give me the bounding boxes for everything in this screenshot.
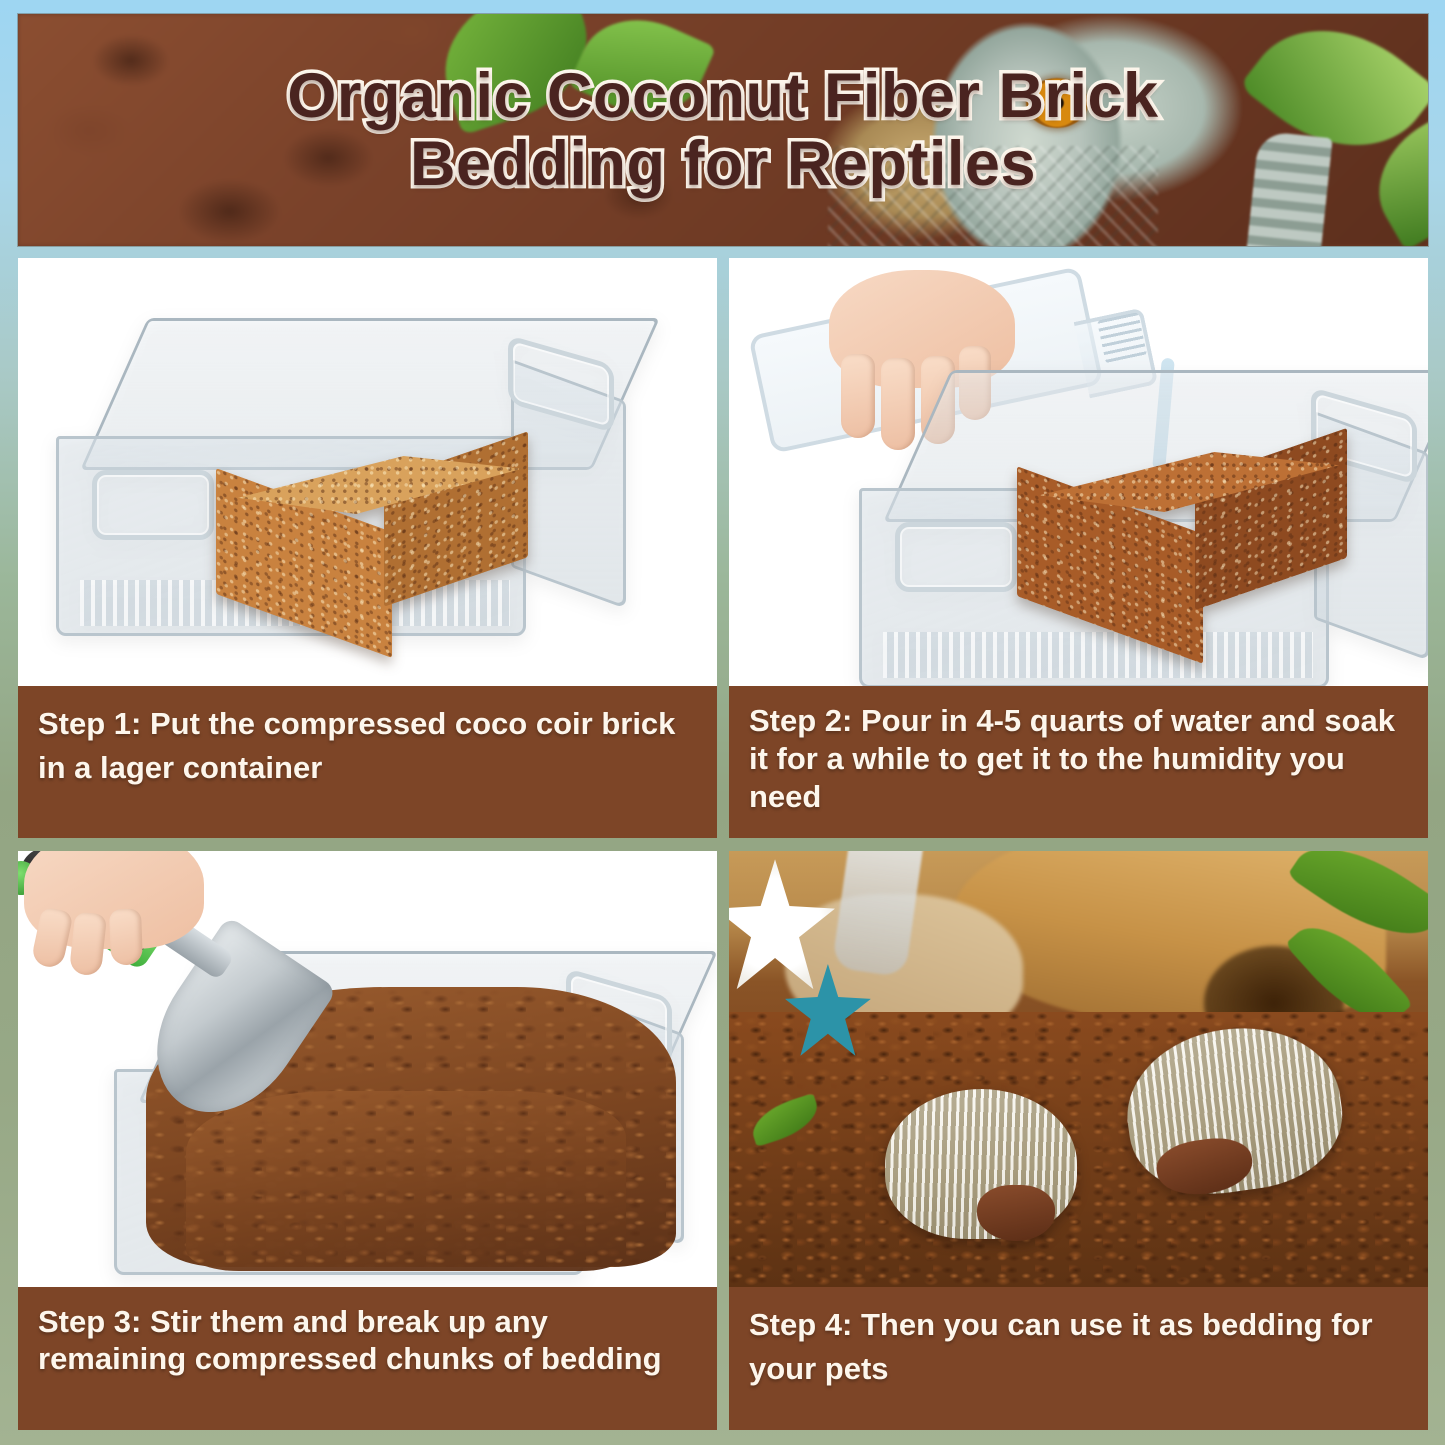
title-line-2: Bedding for Reptiles: [410, 131, 1036, 197]
bin-handle-left: [895, 522, 1017, 592]
terrarium-scene: [729, 851, 1428, 1287]
steps-grid: Step 1: Put the compressed coco coir bri…: [18, 258, 1428, 1430]
finger: [109, 908, 143, 965]
infographic-page: Organic Coconut Fiber Brick Bedding for …: [0, 0, 1445, 1445]
step-3-caption-bar: Step 3: Stir them and break up any remai…: [18, 1287, 717, 1431]
crab-body: [977, 1185, 1055, 1241]
step-4-photo: [729, 851, 1428, 1287]
step-3-caption-text: Step 3: Stir them and break up any remai…: [38, 1303, 697, 1379]
coco-coir-brick: [1017, 444, 1347, 634]
step-card-1: Step 1: Put the compressed coco coir bri…: [18, 258, 717, 838]
bottle-cap-rings: [1097, 312, 1147, 364]
step-card-3: Step 3: Stir them and break up any remai…: [18, 851, 717, 1431]
hermit-crab-left: [885, 1089, 1077, 1239]
step-2-caption-text: Step 2: Pour in 4-5 quarts of water and …: [749, 702, 1408, 815]
coco-fiber-mound-front: [186, 1091, 626, 1271]
bin-bottom-ridges: [883, 632, 1313, 678]
page-title: Organic Coconut Fiber Brick Bedding for …: [18, 14, 1428, 246]
title-line-1: Organic Coconut Fiber Brick: [287, 63, 1158, 129]
step-card-2: Step 2: Pour in 4-5 quarts of water and …: [729, 258, 1428, 838]
step-2-photo: [729, 258, 1428, 686]
step-2-caption-bar: Step 2: Pour in 4-5 quarts of water and …: [729, 686, 1428, 838]
step-1-caption-bar: Step 1: Put the compressed coco coir bri…: [18, 686, 717, 838]
step-4-caption-bar: Step 4: Then you can use it as bedding f…: [729, 1287, 1428, 1431]
step-4-caption-text: Step 4: Then you can use it as bedding f…: [749, 1303, 1408, 1391]
hermit-crab-right: [1117, 1014, 1351, 1204]
coco-coir-brick: [216, 448, 528, 628]
step-3-photo: [18, 851, 717, 1287]
step-1-caption-text: Step 1: Put the compressed coco coir bri…: [38, 702, 697, 790]
step-1-photo: [18, 258, 717, 686]
bin-handle-left: [92, 470, 214, 540]
header-banner: Organic Coconut Fiber Brick Bedding for …: [18, 14, 1428, 246]
step-card-4: Step 4: Then you can use it as bedding f…: [729, 851, 1428, 1431]
